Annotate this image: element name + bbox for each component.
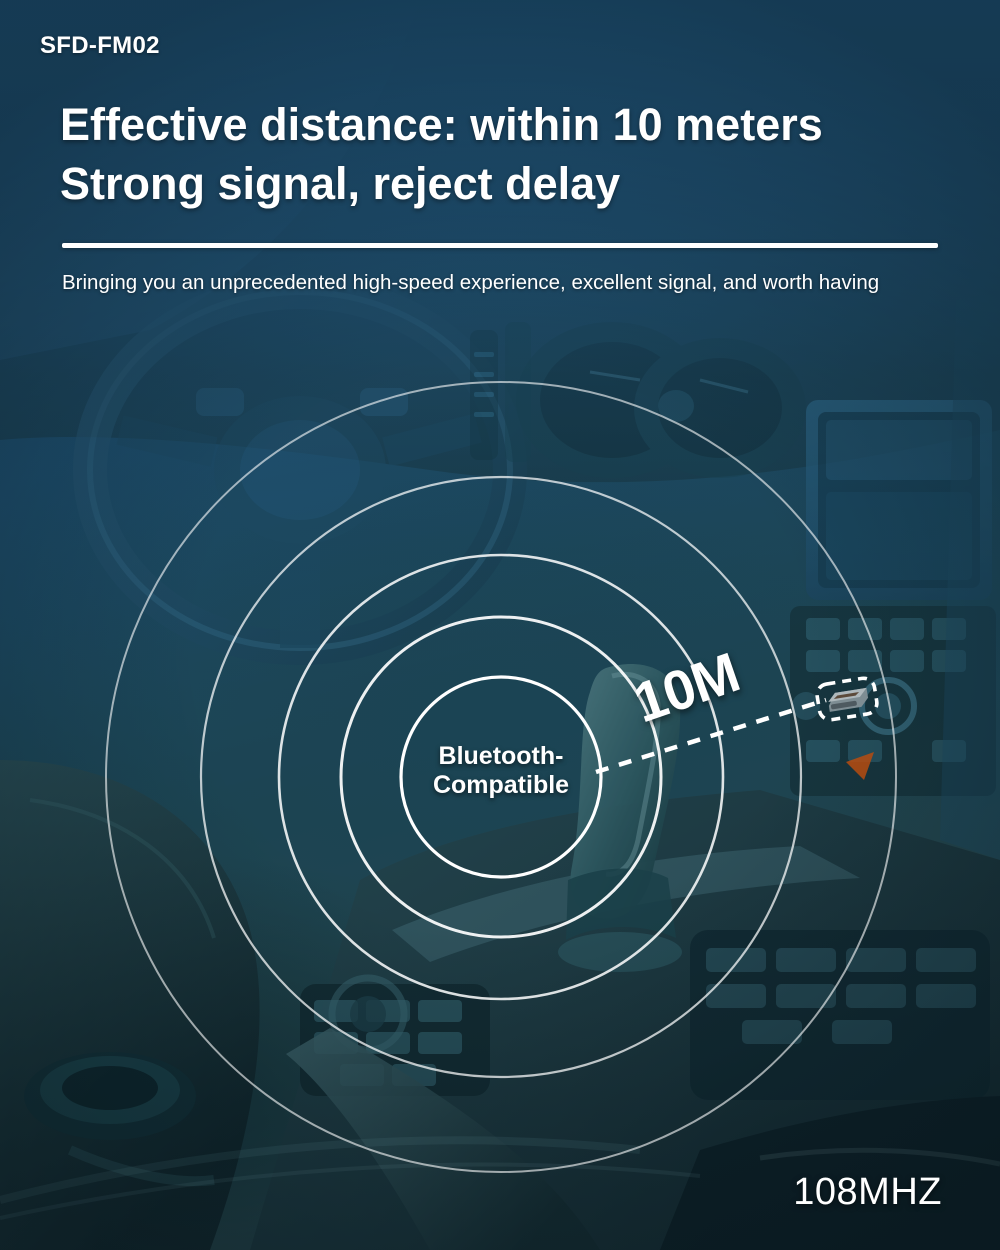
frequency-label: 108MHZ [793, 1171, 942, 1214]
bluetooth-label-line-2: Compatible [433, 771, 569, 799]
model-number: SFD-FM02 [40, 32, 160, 60]
headline-line-1: Effective distance: within 10 meters [60, 99, 823, 150]
bluetooth-compatible-label: Bluetooth- Compatible [401, 742, 601, 801]
bluetooth-label-line-1: Bluetooth- [439, 742, 564, 770]
header-divider [62, 243, 938, 248]
headline-line-2: Strong signal, reject delay [60, 155, 960, 214]
product-feature-poster: SFD-FM02 Effective distance: within 10 m… [0, 0, 1000, 1250]
page-title: Effective distance: within 10 meters Str… [60, 96, 960, 213]
subtitle-text: Bringing you an unprecedented high-speed… [62, 266, 914, 299]
